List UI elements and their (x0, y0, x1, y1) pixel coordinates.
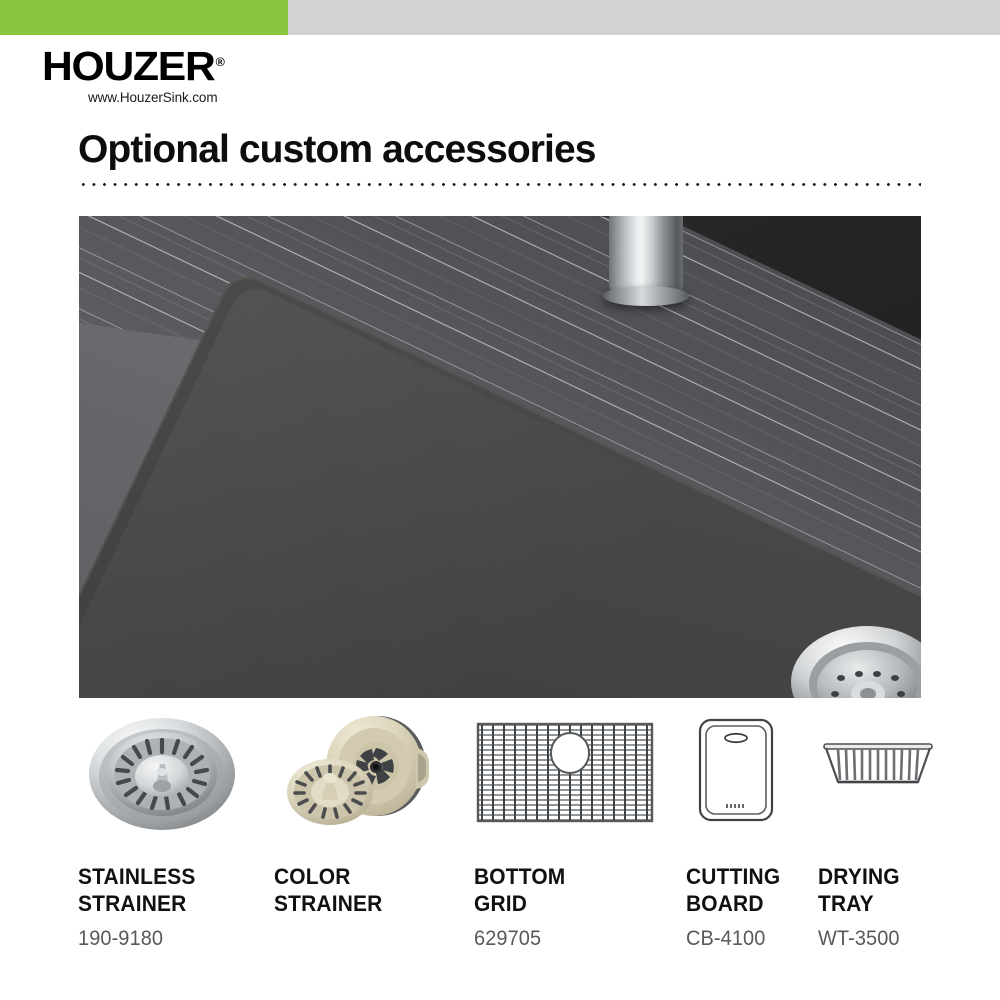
brand-website-url: www.HouzerSink.com (88, 90, 342, 105)
accessory-item-stainless-strainer[interactable]: STAINLESS STRAINER 190-9180 (78, 712, 274, 950)
top-bar-green-block (0, 0, 288, 35)
hero-product-photo (79, 216, 921, 698)
brand-wordmark: HOUZER® (42, 46, 225, 87)
hero-faucet-icon (609, 216, 683, 294)
accessory-label: BOTTOM GRID (474, 863, 565, 918)
accessory-item-cutting-board[interactable]: CUTTING BOARD CB-4100 (686, 712, 818, 950)
accessory-model-number: 629705 (474, 927, 541, 950)
stainless-strainer-icon (86, 714, 238, 832)
brand-logo: HOUZER® www.HouzerSink.com (42, 46, 342, 105)
accessory-label: STAINLESS STRAINER (78, 863, 196, 918)
accessory-art (274, 712, 474, 834)
accessory-art (78, 712, 274, 834)
accessory-model-number: 190-9180 (78, 927, 163, 950)
registered-trademark-icon: ® (216, 55, 225, 69)
accessory-list: STAINLESS STRAINER 190-9180 (78, 712, 938, 950)
accessory-label: CUTTING BOARD (686, 863, 780, 918)
color-strainer-icon (280, 714, 438, 832)
top-color-bar (0, 0, 1000, 35)
hero-faucet-base (603, 286, 689, 306)
hero-photo-content (79, 216, 921, 698)
accessory-item-bottom-grid[interactable]: BOTTOM GRID 629705 (474, 712, 686, 950)
page-title: Optional custom accessories (78, 130, 596, 171)
accessory-model-number: CB-4100 (686, 927, 765, 950)
accessory-item-color-strainer[interactable]: COLOR STRAINER (274, 712, 474, 950)
accessory-label: COLOR STRAINER (274, 863, 382, 918)
bottom-grid-icon (474, 717, 656, 829)
accessory-art (818, 712, 938, 834)
top-bar-grey-block (288, 0, 1000, 35)
drying-tray-icon (818, 714, 938, 832)
accessory-art (474, 712, 686, 834)
accessory-model-number: WT-3500 (818, 927, 900, 950)
cutting-board-icon (688, 714, 788, 832)
accessory-label: DRYING TRAY (818, 863, 900, 918)
dotted-divider (78, 182, 921, 187)
accessory-item-drying-tray[interactable]: DRYING TRAY WT-3500 (818, 712, 938, 950)
accessory-art (686, 712, 818, 834)
hero-drain-strainer-icon (789, 612, 921, 698)
brand-wordmark-text: HOUZER (42, 43, 215, 89)
page-root: HOUZER® www.HouzerSink.com Optional cust… (0, 0, 1000, 1000)
